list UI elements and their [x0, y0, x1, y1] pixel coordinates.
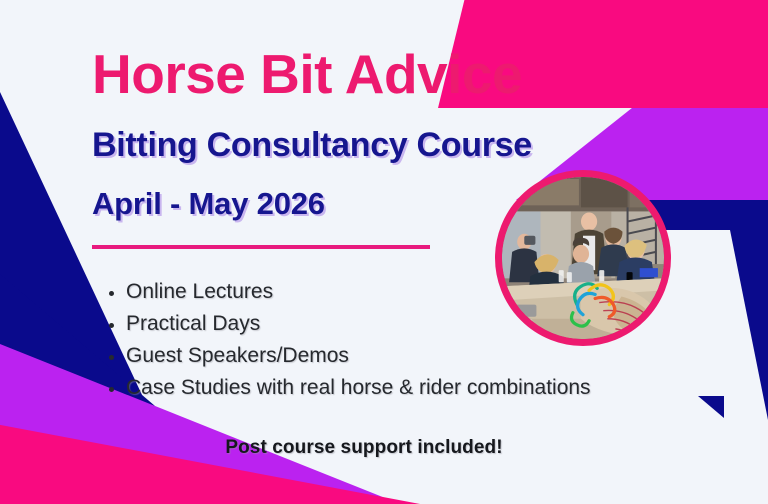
page-title: Horse Bit Advice	[92, 42, 522, 106]
course-photo	[495, 170, 671, 346]
workshop-photo-illustration	[502, 177, 664, 339]
promo-poster: Horse Bit Advice Bitting Consultancy Cou…	[0, 0, 768, 504]
list-item: Guest Speakers/Demos	[126, 340, 591, 372]
course-dates: April - May 2026	[92, 186, 325, 222]
list-item: Case Studies with real horse & rider com…	[126, 372, 591, 404]
course-subtitle: Bitting Consultancy Course	[92, 126, 532, 165]
post-course-support-note: Post course support included!	[0, 437, 768, 459]
poster-content: Horse Bit Advice Bitting Consultancy Cou…	[0, 0, 768, 504]
divider-rule	[92, 245, 430, 249]
